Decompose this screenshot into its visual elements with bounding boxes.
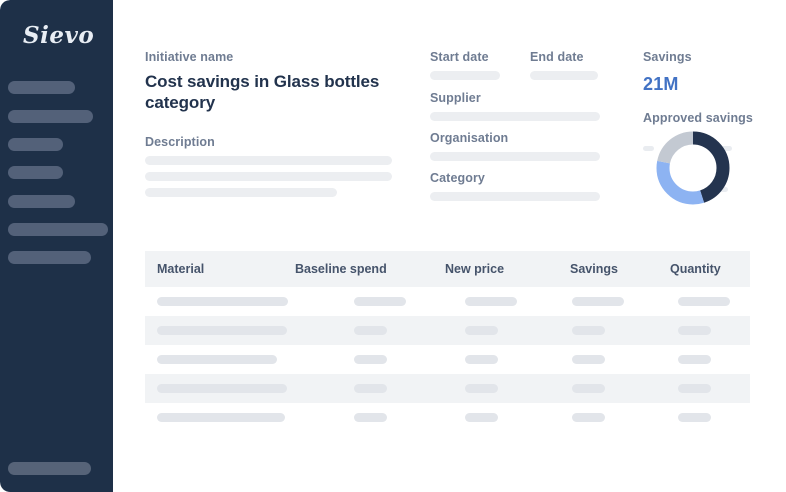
table-header-savings[interactable]: Savings: [570, 262, 618, 276]
sidebar-item-3[interactable]: [8, 138, 63, 151]
table-cell-baseline-spend: [354, 355, 387, 364]
supplier-label: Supplier: [430, 91, 481, 105]
app-window: Sievo Initiative name Cost savings in Gl…: [0, 0, 786, 492]
sidebar-item-1[interactable]: [8, 81, 75, 94]
table-cell-savings: [572, 384, 605, 393]
table-header-quantity[interactable]: Quantity: [670, 262, 721, 276]
table-cell-material: [157, 355, 277, 364]
table-cell-material: [157, 413, 285, 422]
table-header-row: MaterialBaseline spendNew priceSavingsQu…: [145, 251, 750, 287]
description-label: Description: [145, 135, 215, 149]
sidebar: Sievo: [0, 0, 113, 492]
sidebar-item-bottom[interactable]: [8, 462, 91, 475]
end-date-value[interactable]: [530, 71, 598, 80]
table-header-material[interactable]: Material: [157, 262, 204, 276]
table-cell-new-price: [465, 326, 498, 335]
supplier-value[interactable]: [430, 112, 600, 121]
table-row[interactable]: [145, 316, 750, 345]
table-cell-quantity: [678, 326, 711, 335]
materials-table: MaterialBaseline spendNew priceSavingsQu…: [145, 251, 750, 432]
sidebar-item-7[interactable]: [8, 251, 91, 264]
savings-label: Savings: [643, 50, 692, 64]
donut-tick-left: [643, 146, 654, 151]
table-cell-baseline-spend: [354, 326, 387, 335]
category-label: Category: [430, 171, 485, 185]
sidebar-item-5[interactable]: [8, 195, 75, 208]
description-line-2: [145, 172, 392, 181]
sidebar-item-6[interactable]: [8, 223, 108, 236]
category-value[interactable]: [430, 192, 600, 201]
savings-value: 21M: [643, 74, 679, 95]
start-date-label: Start date: [430, 50, 489, 64]
table-cell-savings: [572, 355, 605, 364]
table-cell-new-price: [465, 355, 498, 364]
table-cell-material: [157, 297, 288, 306]
sidebar-item-4[interactable]: [8, 166, 63, 179]
table-cell-savings: [572, 413, 605, 422]
description-line-1: [145, 156, 392, 165]
table-header-baseline-spend[interactable]: Baseline spend: [295, 262, 387, 276]
approved-savings-donut-chart: [643, 130, 743, 208]
description-line-3: [145, 188, 337, 197]
organisation-label: Organisation: [430, 131, 508, 145]
table-cell-baseline-spend: [354, 384, 387, 393]
table-cell-new-price: [465, 413, 498, 422]
table-cell-quantity: [678, 384, 711, 393]
table-cell-quantity: [678, 297, 730, 306]
sievo-logo[interactable]: Sievo: [23, 22, 94, 49]
table-cell-baseline-spend: [354, 413, 387, 422]
table-cell-new-price: [465, 384, 498, 393]
end-date-label: End date: [530, 50, 584, 64]
table-row[interactable]: [145, 374, 750, 403]
table-body: [145, 287, 750, 432]
table-cell-quantity: [678, 413, 711, 422]
table-cell-material: [157, 326, 287, 335]
initiative-name-label: Initiative name: [145, 50, 233, 64]
sidebar-item-2[interactable]: [8, 110, 93, 123]
page-title: Cost savings in Glass bottles category: [145, 71, 400, 113]
approved-savings-label: Approved savings: [643, 111, 753, 125]
table-cell-material: [157, 384, 287, 393]
table-header-new-price[interactable]: New price: [445, 262, 504, 276]
table-row[interactable]: [145, 287, 750, 316]
table-cell-new-price: [465, 297, 517, 306]
start-date-value[interactable]: [430, 71, 500, 80]
table-row[interactable]: [145, 345, 750, 374]
table-row[interactable]: [145, 403, 750, 432]
donut-svg: [655, 130, 731, 206]
table-cell-quantity: [678, 355, 711, 364]
table-cell-baseline-spend: [354, 297, 406, 306]
table-cell-savings: [572, 326, 605, 335]
table-cell-savings: [572, 297, 624, 306]
organisation-value[interactable]: [430, 152, 600, 161]
main-content: Initiative name Cost savings in Glass bo…: [113, 0, 786, 492]
